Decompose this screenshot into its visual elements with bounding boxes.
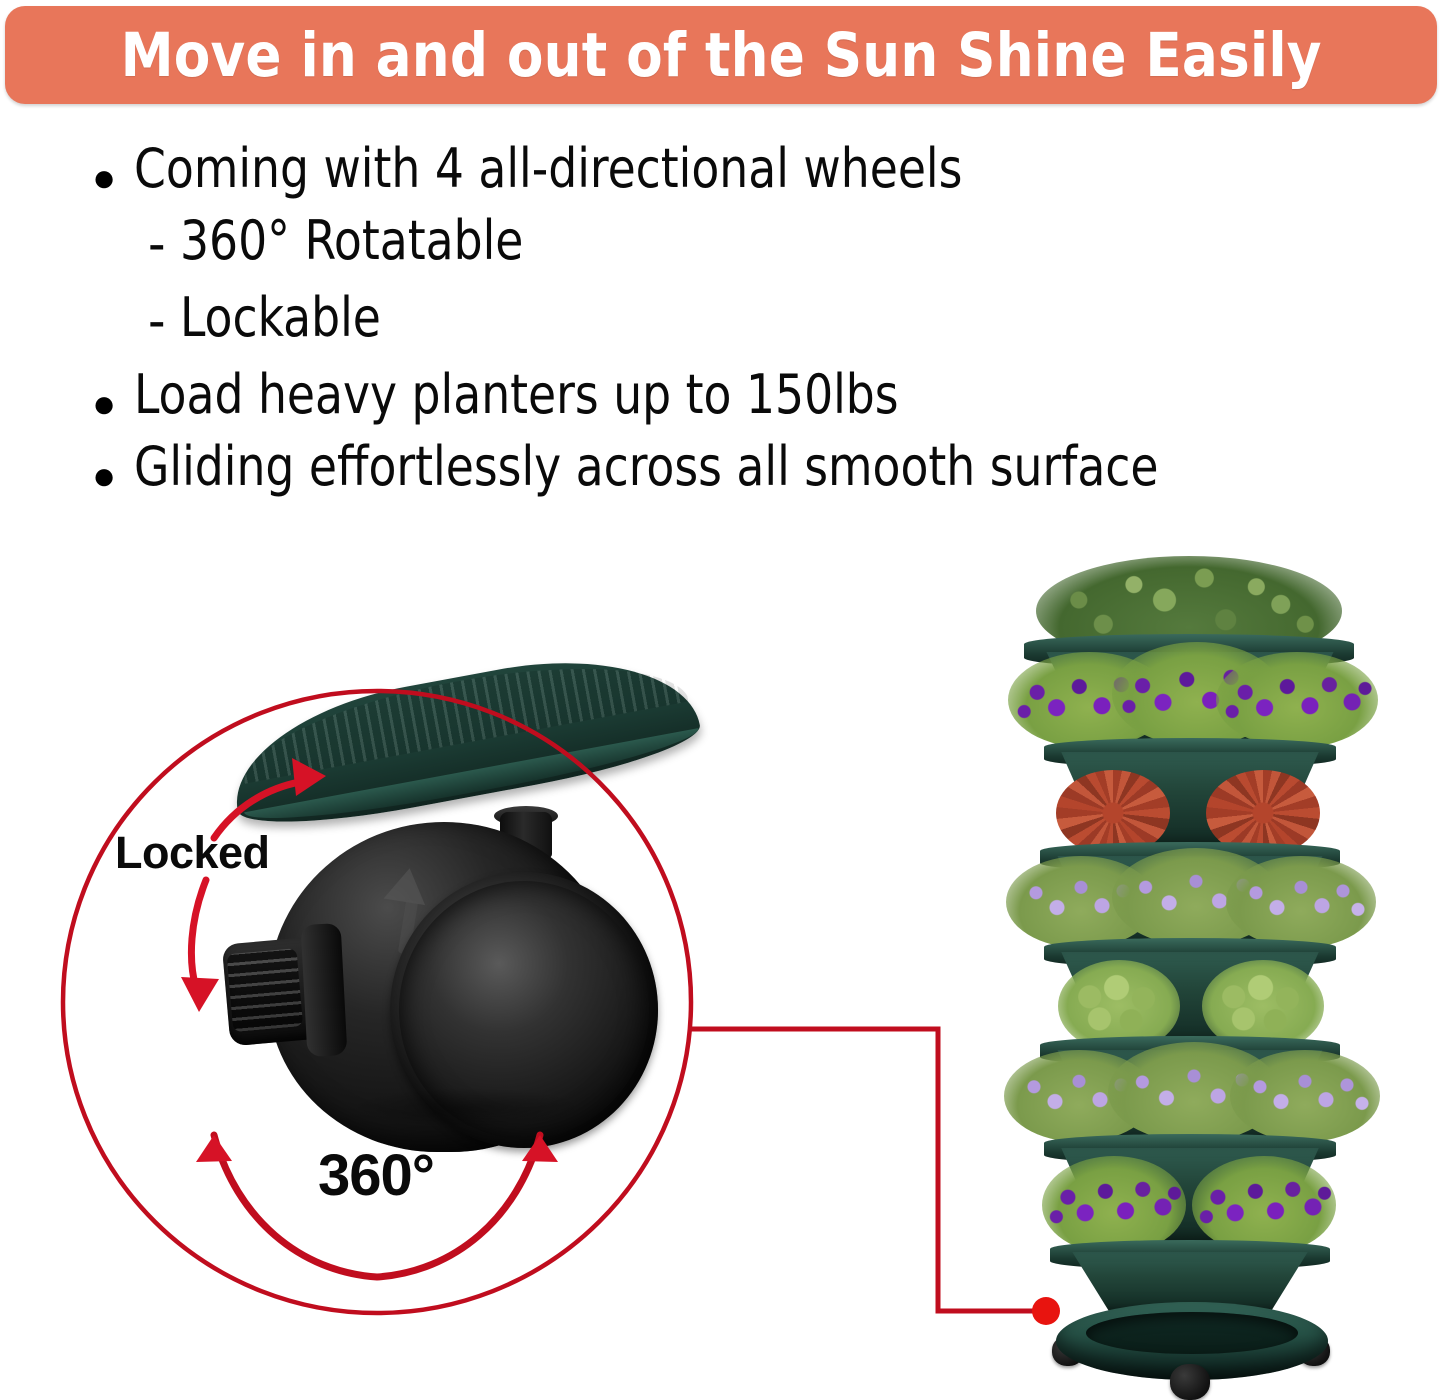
plant-purple-viola-flowers	[1216, 652, 1378, 748]
brake-tab	[301, 923, 348, 1057]
brake-ribs-texture	[227, 948, 304, 1032]
feature-text: Coming with 4 all-directional wheels	[134, 140, 962, 197]
list-item: ● Coming with 4 all-directional wheels	[92, 140, 1432, 198]
leader-line	[688, 1029, 1040, 1311]
plant-lavender-lobelia-flowers	[1230, 1050, 1380, 1142]
dash-icon: -	[148, 212, 166, 275]
locked-arrow-curve	[191, 880, 206, 988]
list-item: ● Load heavy planters up to 150lbs	[92, 366, 1432, 424]
bullet-dot-icon: ●	[92, 158, 134, 198]
wheel-drop-shadow	[352, 1088, 582, 1128]
caster-wheel-icon	[1170, 1364, 1210, 1400]
locked-label: Locked	[115, 827, 270, 879]
banner-title: Move in and out of the Sun Shine Easily	[120, 25, 1321, 86]
list-item-sub: - Lockable	[148, 289, 1432, 352]
base-ribs-texture	[234, 640, 690, 783]
product-tower-image	[1000, 556, 1382, 1392]
bullet-dot-icon: ●	[92, 384, 134, 424]
feature-list: ● Coming with 4 all-directional wheels -…	[92, 140, 1432, 510]
planter-base-underside	[221, 635, 705, 839]
caddy-inner-well	[1086, 1312, 1298, 1354]
header-banner: Move in and out of the Sun Shine Easily	[5, 6, 1437, 104]
list-item: ● Gliding effortlessly across all smooth…	[92, 438, 1432, 496]
infographic-root: Move in and out of the Sun Shine Easily …	[0, 0, 1445, 1397]
list-item-sub: - 360° Rotatable	[148, 212, 1432, 275]
feature-text: Lockable	[180, 289, 381, 346]
locked-arrow-head-icon	[181, 977, 219, 1012]
caster-wheel-photo	[232, 690, 672, 1180]
dash-icon: -	[148, 289, 166, 352]
feature-text: Gliding effortlessly across all smooth s…	[134, 438, 1159, 495]
feature-text: 360° Rotatable	[180, 212, 523, 269]
feature-text: Load heavy planters up to 150lbs	[134, 366, 899, 423]
rotation-label: 360°	[318, 1142, 434, 1209]
rotation-arrow-head-left-icon	[196, 1135, 232, 1162]
bullet-dot-icon: ●	[92, 456, 134, 496]
plant-lavender-lobelia-flowers	[1226, 856, 1376, 948]
